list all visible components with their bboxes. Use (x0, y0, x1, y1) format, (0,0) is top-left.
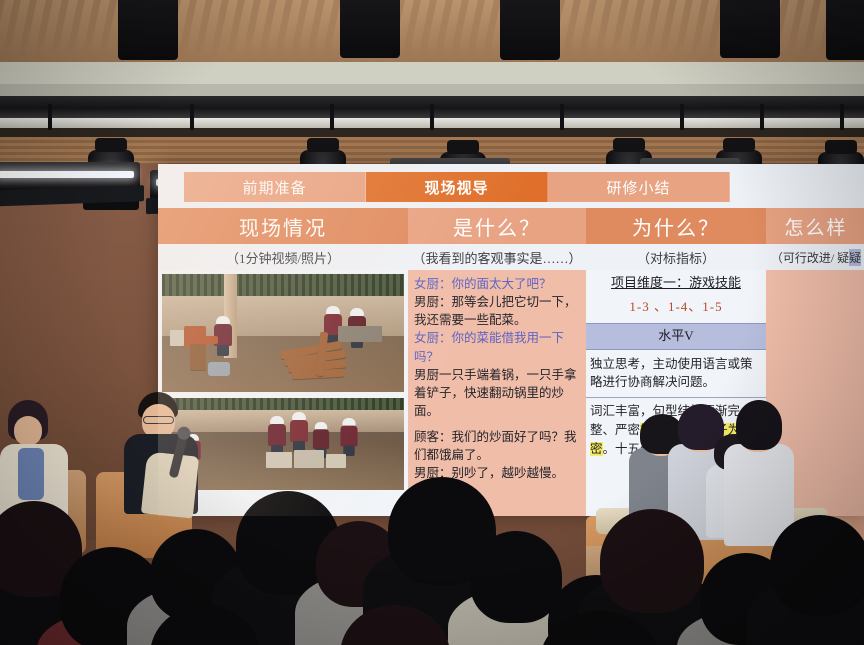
audience-silhouettes (0, 455, 864, 645)
ceiling-spotlight-5 (826, 0, 864, 60)
dimension-codes: 1-3 、1-4、1-5 (586, 295, 766, 323)
light-hanger-4 (430, 104, 434, 130)
level-description: 独立思考，主动使用语言或策略进行协商解决问题。 (586, 350, 766, 393)
column-why-subtitle: （对标指标） (586, 244, 766, 270)
eyeglasses (143, 416, 174, 424)
light-hanger-7 (760, 104, 764, 130)
slide-tab-strip: 前期准备 现场视导 研修小结 (158, 172, 864, 202)
column-how-subtitle: （可行改进/ 疑疑 (766, 244, 864, 270)
column-what-header: 是什么？ (408, 208, 586, 244)
panelist-hair (736, 400, 782, 450)
column-how-subtitle-text: （可行改进/ 疑 (771, 249, 849, 266)
light-hanger-1 (48, 104, 52, 130)
dialogue-line: 女厨：你的面太大了吧？ (414, 275, 580, 293)
tab-onsite-guidance[interactable]: 现场视导 (366, 172, 548, 202)
light-hanger-8 (840, 104, 844, 130)
ceiling-spotlight-1 (118, 0, 178, 60)
dimension-title: 项目维度一：游戏技能 (586, 270, 766, 295)
audience-head (770, 515, 864, 615)
audience-head (470, 531, 562, 623)
tab-summary[interactable]: 研修小结 (548, 172, 730, 202)
screenshot-root: 前期准备 现场视导 研修小结 现场情况 （1分钟视频/照片） (0, 0, 864, 645)
column-what-subtitle: （我看到的客观事实是……） (408, 244, 586, 270)
light-hanger-2 (190, 104, 194, 130)
light-hanger-6 (680, 104, 684, 130)
audience-head (600, 509, 704, 613)
ceiling-spotlight-4 (720, 0, 780, 58)
column-why-header: 为什么？ (586, 208, 766, 244)
light-hanger-5 (560, 104, 564, 130)
column-situation-header: 现场情况 (158, 208, 408, 244)
photo-children-outdoor-play-1 (162, 274, 404, 392)
tab-preparation[interactable]: 前期准备 (184, 172, 366, 202)
column-how-header: 怎么样 (766, 208, 864, 244)
ceiling-spotlight-2 (340, 0, 400, 58)
divider (586, 397, 766, 398)
level-label: 水平V (586, 323, 766, 350)
column-how-subtitle-highlight: 疑 (849, 249, 861, 266)
dialogue-line: 男厨：那等会儿把它切一下，我还需要一些配菜。 (414, 293, 580, 329)
paragraph-spacer (414, 420, 580, 428)
ceiling-spotlight-3 (500, 0, 560, 60)
led-bar-1 (0, 162, 140, 192)
light-hanger-3 (330, 104, 334, 130)
dialogue-line: 男厨一只手端着锅，一只手拿着铲子，快速翻动锅里的炒面。 (414, 366, 580, 420)
detail-text: 。 (603, 442, 616, 456)
dialogue-line: 女厨：你的菜能借我用一下吗？ (414, 329, 580, 365)
column-situation-subtitle: （1分钟视频/照片） (158, 244, 408, 270)
led-strip (0, 171, 134, 178)
